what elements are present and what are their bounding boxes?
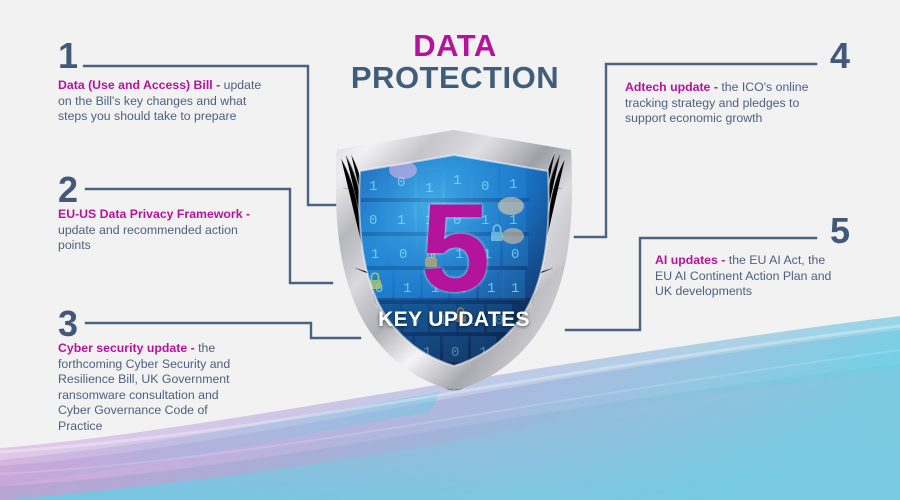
svg-text:1: 1 [511,281,519,297]
svg-text:1: 1 [483,247,491,263]
item-number-3: 3 [58,306,78,342]
svg-text:1: 1 [487,281,495,297]
svg-text:1: 1 [397,213,405,229]
item-lead-4: Adtech update - [625,80,721,94]
item-number-1: 1 [58,38,78,74]
shield-graphic: 101 101 011 011 101 110 011 011 101 10 1… [325,128,583,393]
item-text-5: AI updates - the EU AI Act, the EU AI Co… [655,253,835,300]
svg-text:0: 0 [369,213,377,229]
item-text-4: Adtech update - the ICO's online trackin… [625,80,820,127]
page-title-line-2: PROTECTION [330,62,580,94]
svg-text:0: 0 [399,247,407,263]
svg-text:1: 1 [369,179,377,195]
item-lead-3: Cyber security update - [58,341,198,355]
item-number-2: 2 [58,172,78,208]
item-lead-5: AI updates - [655,253,729,267]
shield-badge: 101 101 011 011 101 110 011 011 101 10 1… [325,128,583,393]
svg-text:1: 1 [481,213,489,229]
svg-text:1: 1 [455,247,463,263]
svg-text:1: 1 [509,177,517,193]
svg-text:1: 1 [403,281,411,297]
item-lead-1: Data (Use and Access) Bill - [58,78,224,92]
svg-text:1: 1 [425,181,433,197]
svg-text:0: 0 [481,179,489,195]
svg-text:0: 0 [511,247,519,263]
connector-path-3 [86,323,360,338]
page-title: DATA PROTECTION [330,30,580,94]
svg-text:0: 0 [459,281,467,297]
infographic-canvas: DATA PROTECTION [0,0,900,500]
svg-text:1: 1 [453,173,461,189]
page-title-line-1: DATA [330,30,580,62]
svg-text:1: 1 [431,281,439,297]
item-text-2: EU-US Data Privacy Framework - update an… [58,207,258,254]
item-lead-2: EU-US Data Privacy Framework - [58,207,250,221]
svg-text:1: 1 [425,213,433,229]
svg-text:0: 0 [453,213,461,229]
item-number-4: 4 [830,38,850,74]
item-number-5: 5 [830,213,850,249]
svg-text:1: 1 [371,247,379,263]
item-body-2: update and recommended action points [58,223,238,253]
svg-text:1: 1 [509,213,517,229]
item-text-3: Cyber security update - the forthcoming … [58,341,253,435]
item-text-1: Data (Use and Access) Bill - update on t… [58,78,270,125]
